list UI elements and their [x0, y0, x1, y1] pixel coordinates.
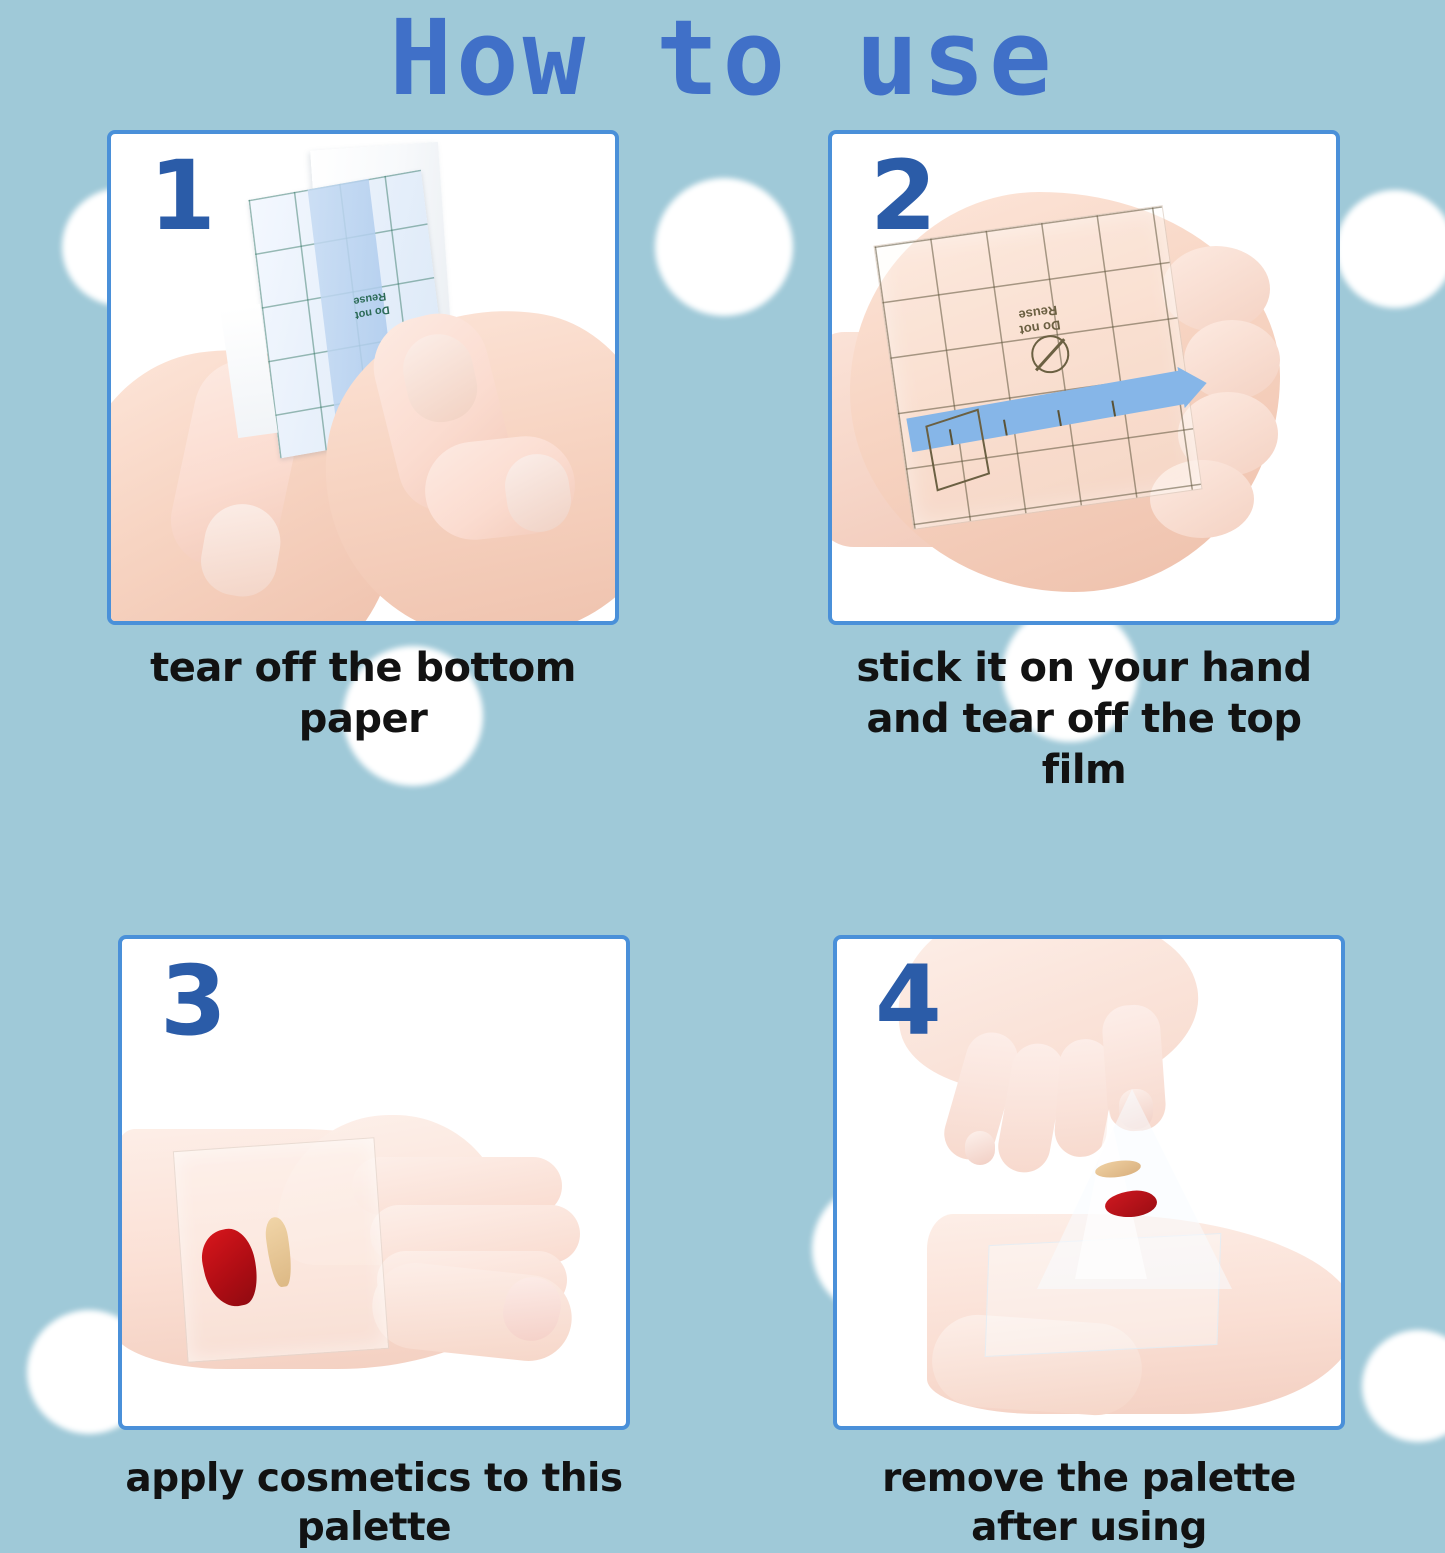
step-3-caption-line-1: apply cosmetics to this palette	[118, 1454, 630, 1553]
step-4-number: 4	[875, 953, 942, 1049]
page-title: How to use	[0, 4, 1445, 113]
step-4-caption-line-1: remove the palette after using	[833, 1454, 1345, 1553]
step-1-caption-line-1: tear off the bottom paper	[107, 643, 619, 745]
step-2-caption: stick it on your hand and tear off the t…	[828, 643, 1340, 797]
step-1-photo: Do not Reuse 1	[107, 130, 619, 625]
steps-grid: Do not Reuse 1 tear off the bottom paper	[0, 130, 1445, 1553]
step-4: 4 remove the palette after using	[833, 935, 1345, 1553]
step-3-photo: 3	[118, 935, 630, 1430]
step-1-caption: tear off the bottom paper	[107, 643, 619, 745]
step-3-number: 3	[160, 953, 227, 1049]
step-3: 3 apply cosmetics to this palette	[118, 935, 630, 1553]
step-1: Do not Reuse 1 tear off the bottom paper	[107, 130, 619, 797]
step-2-caption-line-1: stick it on your hand	[828, 643, 1340, 694]
step-1-number: 1	[149, 148, 216, 244]
film-label-do-not-reuse: Do not Reuse	[1016, 302, 1061, 337]
step-4-photo: 4	[833, 935, 1345, 1430]
step-3-caption: apply cosmetics to this palette	[118, 1454, 630, 1553]
step-2-number: 2	[870, 148, 937, 244]
step-2-photo: Do not Reuse 2	[828, 130, 1340, 625]
step-2-caption-line-2: and tear off the top film	[828, 694, 1340, 796]
fingernail	[965, 1131, 995, 1165]
step-4-caption: remove the palette after using	[833, 1454, 1345, 1553]
step-2: Do not Reuse 2 stick it on your hand and…	[828, 130, 1340, 797]
film-dressing: Do not Reuse	[873, 205, 1202, 530]
